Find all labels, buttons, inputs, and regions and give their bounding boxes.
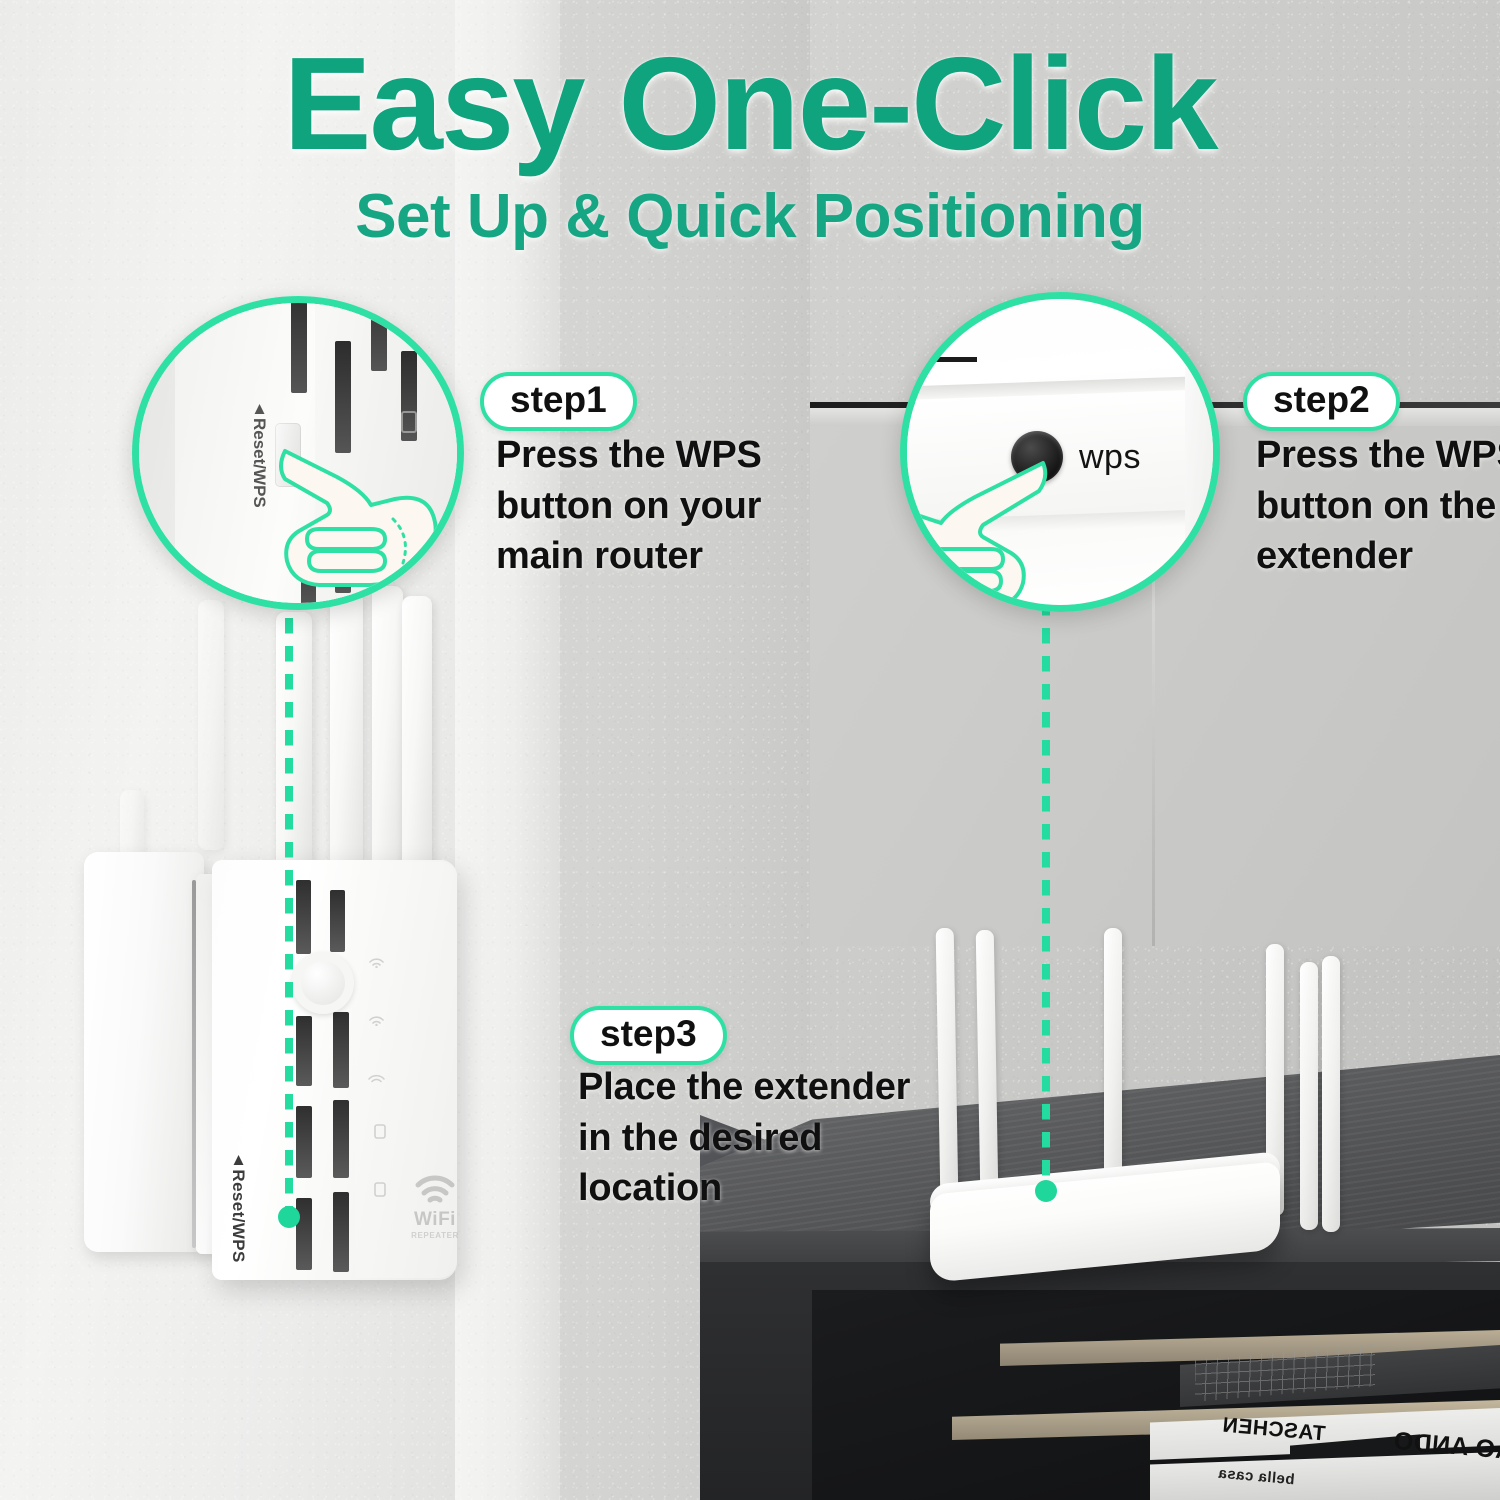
- leader-line-step2: [1042, 600, 1050, 1188]
- step1-badge: step1: [480, 372, 637, 431]
- extender-vent: [296, 1016, 312, 1086]
- extender-vent: [296, 1198, 312, 1270]
- router-closeup-vent: [335, 341, 351, 453]
- callout-circle-extender-wps: wps: [900, 292, 1220, 612]
- step1-text: Press the WPS button on your main router: [496, 430, 796, 582]
- extender-vent: [296, 880, 311, 954]
- cabinet-seam-closeup: [900, 357, 977, 362]
- router-closeup-vent: [335, 483, 351, 593]
- reset-wps-closeup-label: ▲Reset/WPS: [249, 399, 269, 508]
- step2-text: Press the WPS button on the extender: [1256, 430, 1500, 582]
- leader-dot-step1: [278, 1206, 300, 1228]
- power-icon: [401, 411, 417, 433]
- repeater-brand-subtext: REPEATER: [404, 1231, 466, 1240]
- extender-antenna-rear-2: [120, 790, 144, 860]
- wifi-5g-led-icon: [366, 1008, 392, 1026]
- extender-vent: [296, 1106, 312, 1178]
- extender-vent: [333, 1192, 349, 1272]
- wifi-brand-text: WiFi: [404, 1210, 466, 1229]
- wall-power-adapter: [84, 852, 204, 1252]
- extender-reset-wps-label: ▲Reset/WPS: [228, 1150, 248, 1263]
- leader-dot-step2: [1035, 1180, 1057, 1202]
- router-closeup-vent: [291, 296, 307, 393]
- step2-badge: step2: [1243, 372, 1400, 431]
- product-infographic: TASCHEN AO ANDO bella casa: [0, 0, 1500, 1500]
- signal-led-icon: [366, 1066, 392, 1084]
- callout-circle-router-reset-wps: ▲Reset/WPS: [132, 296, 464, 610]
- reset-wps-button-closeup[interactable]: [275, 423, 301, 487]
- wan-port-led-icon: [368, 1180, 394, 1198]
- page-subtitle: Set Up & Quick Positioning: [0, 186, 1500, 248]
- leader-line-step1: [285, 590, 293, 1220]
- router-closeup-vent: [301, 529, 316, 607]
- router-antenna-3: [1104, 928, 1122, 1198]
- lan-port-led-icon: [368, 1122, 394, 1140]
- extender-antenna-3: [372, 586, 403, 882]
- page-title: Easy One-Click: [0, 38, 1500, 170]
- extender-antenna-1: [276, 612, 312, 880]
- router-closeup-vent: [371, 296, 387, 371]
- wps-button[interactable]: [1011, 431, 1063, 483]
- step3-text: Place the extender in the desired locati…: [578, 1062, 928, 1214]
- router-antenna-6: [1322, 956, 1340, 1232]
- extender-vent: [333, 1012, 349, 1088]
- wifi-repeater-logo: WiFi REPEATER: [404, 1168, 466, 1264]
- extender-vent: [333, 1100, 349, 1178]
- adapter-seam: [192, 880, 196, 1248]
- extender-antenna-rear: [198, 600, 224, 850]
- extender-antenna-4: [402, 596, 432, 882]
- extender-antenna-2: [330, 592, 363, 882]
- extender-antenna-hinge: [292, 952, 354, 1014]
- wifi-2g-led-icon: [366, 950, 392, 968]
- wps-button-label: wps: [1079, 438, 1141, 477]
- router-antenna-5: [1300, 962, 1318, 1230]
- step3-badge: step3: [570, 1006, 727, 1065]
- extender-vent: [330, 890, 345, 952]
